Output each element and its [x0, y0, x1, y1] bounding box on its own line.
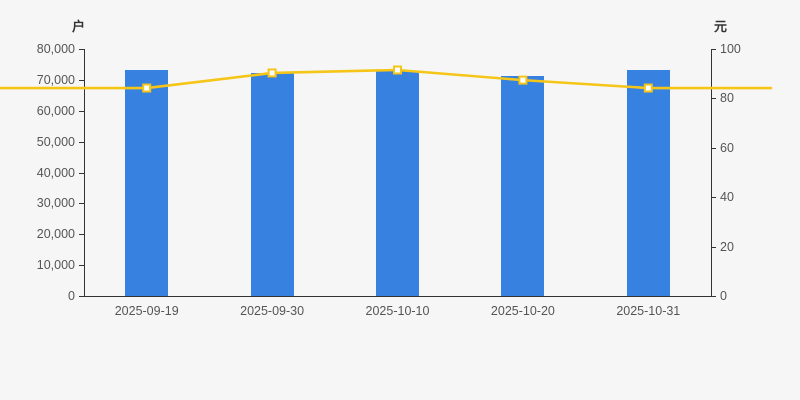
plot-area: 2025-09-19: 84.2元2025-09-30: 90.3元2025-1…	[84, 49, 711, 296]
x-axis-category-label: 2025-09-19	[115, 305, 179, 318]
right-axis-line	[711, 49, 712, 297]
left-axis-unit-label: 户	[72, 20, 85, 33]
left-axis-tick-label: 10,000	[37, 259, 75, 272]
line-series: 2025-09-19: 84.2元2025-09-30: 90.3元2025-1…	[84, 49, 711, 296]
line-marker[interactable]: 2025-10-20: 87.4元	[519, 77, 526, 84]
left-axis-tick-label: 0	[68, 290, 75, 303]
right-axis-tick-mark	[711, 49, 716, 50]
right-axis-tick-label: 100	[720, 43, 741, 56]
left-axis-tick-label: 30,000	[37, 197, 75, 210]
right-axis-tick-mark	[711, 296, 716, 297]
left-axis-tick-mark	[79, 296, 84, 297]
line-marker[interactable]: 2025-09-30: 90.3元	[269, 69, 276, 76]
x-axis-baseline	[84, 296, 712, 297]
right-axis-tick-label: 40	[720, 191, 734, 204]
right-axis-tick-label: 0	[720, 290, 727, 303]
line-marker[interactable]: 2025-10-31: 84.2元	[645, 85, 652, 92]
x-axis-category-label: 2025-09-30	[240, 305, 304, 318]
left-axis-tick-label: 60,000	[37, 105, 75, 118]
right-axis-tick-mark	[711, 98, 716, 99]
left-axis-tick-label: 80,000	[37, 43, 75, 56]
line-path	[0, 70, 771, 88]
right-axis-unit-label: 元	[714, 20, 727, 33]
chart-container: 户 元 010,00020,00030,00040,00050,00060,00…	[0, 0, 800, 400]
right-axis-tick-mark	[711, 197, 716, 198]
right-axis-tick-mark	[711, 148, 716, 149]
left-axis-tick-label: 40,000	[37, 166, 75, 179]
line-marker[interactable]: 2025-10-10: 91.5元	[394, 66, 401, 73]
right-axis-tick-label: 80	[720, 92, 734, 105]
x-axis-category-label: 2025-10-10	[366, 305, 430, 318]
line-marker[interactable]: 2025-09-19: 84.2元	[143, 85, 150, 92]
right-axis-tick-label: 20	[720, 240, 734, 253]
left-axis-tick-label: 50,000	[37, 135, 75, 148]
right-axis-tick-label: 60	[720, 142, 734, 155]
left-axis-tick-label: 20,000	[37, 228, 75, 241]
x-axis-category-label: 2025-10-31	[616, 305, 680, 318]
right-axis-tick-mark	[711, 247, 716, 248]
x-axis-category-label: 2025-10-20	[491, 305, 555, 318]
left-axis-tick-label: 70,000	[37, 74, 75, 87]
